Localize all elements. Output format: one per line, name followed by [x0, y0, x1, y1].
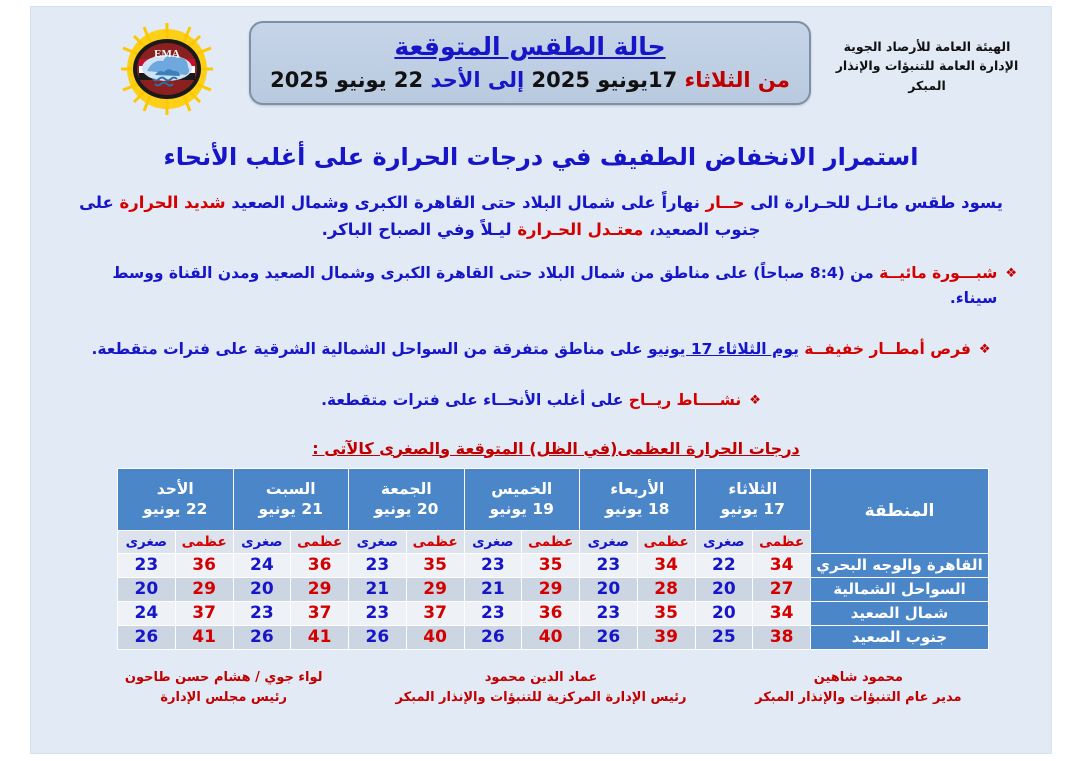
headline: استمرار الانخفاض الطفيف في درجات الحرارة… — [31, 143, 1051, 171]
cell-min-r2-d0: 20 — [695, 601, 753, 625]
date-to-value: 22 يونيو 2025 — [270, 68, 423, 92]
summary-paragraph: يسود طقس مائـل للحـرارة الى حــار نهاراً… — [61, 189, 1021, 243]
day-1-name: الأربعاء — [580, 479, 695, 499]
diamond-bullet-icon: ❖ — [979, 340, 991, 361]
table-row: السواحل الشمالية272028202921292129202920 — [118, 577, 989, 601]
table-head-row-days: المنطقة الثلاثاء 17 يونيو الأربعاء 18 يو… — [118, 468, 989, 530]
authority-line-2: الإدارة العامة للتنبؤات والإنذار المبكر — [817, 56, 1037, 95]
table-head: المنطقة الثلاثاء 17 يونيو الأربعاء 18 يو… — [118, 468, 989, 553]
cell-min-r0-d2: 23 — [464, 553, 522, 577]
cell-max-r1-d3: 29 — [406, 577, 464, 601]
subheader-min-day-0: صغرى — [695, 530, 753, 553]
signature-right: محمود شاهين مدير عام التنبؤات والإنذار ا… — [700, 668, 1017, 708]
column-header-day-4: السبت 21 يونيو — [233, 468, 349, 530]
cell-max-r0-d2: 35 — [522, 553, 580, 577]
list-item: ❖ شبـــورة مائيــة من (8:4 صباحاً) على م… — [31, 261, 1051, 311]
signature-center-name: عماد الدين محمود — [382, 668, 699, 688]
cell-max-r3-d5: 41 — [175, 625, 233, 649]
diamond-bullet-icon: ❖ — [749, 391, 761, 412]
day-3-date: 20 يونيو — [349, 499, 464, 519]
cell-max-r3-d0: 38 — [753, 625, 811, 649]
diamond-bullet-icon: ❖ — [1005, 264, 1017, 285]
cell-max-r1-d4: 29 — [291, 577, 349, 601]
header: EMA حالة الطقس المتوقعة من الثلاثاء 17يو… — [31, 7, 1051, 119]
authority-block: الهيئة العامة للأرصاد الجوية الإدارة الع… — [817, 37, 1037, 95]
cell-max-r0-d5: 36 — [175, 553, 233, 577]
cell-max-r3-d2: 40 — [522, 625, 580, 649]
table-row: شمال الصعيد342035233623372337233724 — [118, 601, 989, 625]
cell-min-r3-d0: 25 — [695, 625, 753, 649]
svg-text:EMA: EMA — [154, 48, 180, 60]
cell-region-0: القاهرة والوجه البحري — [811, 553, 989, 577]
cell-region-3: جنوب الصعيد — [811, 625, 989, 649]
bullet-1-lead: شبـــورة مائيــة — [879, 264, 997, 282]
signature-left-name: لواء جوي / هشام حسن طاحون — [65, 668, 382, 688]
cell-max-r2-d1: 35 — [637, 601, 695, 625]
day-0-name: الثلاثاء — [696, 479, 811, 499]
cell-min-r0-d1: 23 — [580, 553, 638, 577]
cell-max-r1-d0: 27 — [753, 577, 811, 601]
cell-min-r2-d1: 23 — [580, 601, 638, 625]
cell-min-r3-d3: 26 — [349, 625, 407, 649]
subheader-min-day-2: صغرى — [464, 530, 522, 553]
subheader-max-day-4: عظمى — [291, 530, 349, 553]
bullet-1-text: من (8:4 صباحاً) على مناطق من شمال البلاد… — [112, 264, 997, 307]
forecast-bulletin-page: EMA حالة الطقس المتوقعة من الثلاثاء 17يو… — [30, 6, 1052, 754]
cell-region-2: شمال الصعيد — [811, 601, 989, 625]
cell-max-r0-d0: 34 — [753, 553, 811, 577]
bullet-2-lead: فرص أمطــار خفيفــة — [804, 340, 971, 358]
day-4-name: السبت — [234, 479, 349, 499]
cell-min-r1-d2: 21 — [464, 577, 522, 601]
cell-min-r1-d4: 20 — [233, 577, 291, 601]
signature-left: لواء جوي / هشام حسن طاحون رئيس مجلس الإد… — [65, 668, 382, 708]
cell-min-r3-d2: 26 — [464, 625, 522, 649]
cell-min-r1-d0: 20 — [695, 577, 753, 601]
day-4-date: 21 يونيو — [234, 499, 349, 519]
cell-max-r0-d1: 34 — [637, 553, 695, 577]
para-segment-1-emphasis: حــار — [706, 193, 745, 212]
subheader-max-day-5: عظمى — [175, 530, 233, 553]
column-header-day-0: الثلاثاء 17 يونيو — [695, 468, 811, 530]
cell-min-r1-d5: 20 — [118, 577, 176, 601]
column-header-day-2: الخميس 19 يونيو — [464, 468, 580, 530]
cell-max-r1-d2: 29 — [522, 577, 580, 601]
cell-max-r2-d2: 36 — [522, 601, 580, 625]
list-item: ❖ نشــــاط ريــاح على أغلب الأنحــاء على… — [31, 388, 1051, 413]
day-1-date: 18 يونيو — [580, 499, 695, 519]
signature-center: عماد الدين محمود رئيس الإدارة المركزية ل… — [382, 668, 699, 708]
footer-signatures: محمود شاهين مدير عام التنبؤات والإنذار ا… — [31, 650, 1051, 708]
cell-min-r2-d2: 23 — [464, 601, 522, 625]
signature-center-title: رئيس الإدارة المركزية للتنبؤات والإنذار … — [382, 688, 699, 708]
title-date-range: من الثلاثاء 17يونيو 2025 إلى الأحد 22 يو… — [251, 68, 809, 93]
cell-min-r3-d5: 26 — [118, 625, 176, 649]
cell-max-r2-d4: 37 — [291, 601, 349, 625]
signature-left-title: رئيس مجلس الإدارة — [65, 688, 382, 708]
day-5-name: الأحد — [118, 479, 233, 499]
subheader-min-day-3: صغرى — [349, 530, 407, 553]
forecast-table: المنطقة الثلاثاء 17 يونيو الأربعاء 18 يو… — [117, 468, 989, 650]
table-row: القاهرة والوجه البحري3422342335233523362… — [118, 553, 989, 577]
page-title: حالة الطقس المتوقعة — [251, 31, 809, 62]
cell-max-r3-d1: 39 — [637, 625, 695, 649]
authority-line-1: الهيئة العامة للأرصاد الجوية — [817, 37, 1037, 56]
signature-right-title: مدير عام التنبؤات والإنذار المبكر — [700, 688, 1017, 708]
cell-max-r2-d3: 37 — [406, 601, 464, 625]
forecast-table-wrap: المنطقة الثلاثاء 17 يونيو الأربعاء 18 يو… — [31, 468, 1051, 650]
para-segment-2: نهاراً على شمال البلاد حتى القاهرة الكبر… — [231, 193, 699, 212]
table-body: القاهرة والوجه البحري3422342335233523362… — [118, 553, 989, 649]
cell-region-1: السواحل الشمالية — [811, 577, 989, 601]
cell-min-r3-d1: 26 — [580, 625, 638, 649]
signature-right-name: محمود شاهين — [700, 668, 1017, 688]
subheader-max-day-1: عظمى — [637, 530, 695, 553]
date-from-label: من الثلاثاء — [685, 68, 790, 92]
bullet-2-date: يوم الثلاثاء 17 يونيو — [648, 340, 799, 358]
subheader-min-day-1: صغرى — [580, 530, 638, 553]
bullet-2-text: على مناطق متفرقة من السواحل الشمالية الش… — [91, 340, 642, 358]
cell-max-r1-d5: 29 — [175, 577, 233, 601]
table-caption: درجات الحرارة العظمى(في الظل) المتوقعة و… — [31, 439, 1051, 458]
cell-min-r2-d4: 23 — [233, 601, 291, 625]
day-2-date: 19 يونيو — [465, 499, 580, 519]
title-box: حالة الطقس المتوقعة من الثلاثاء 17يونيو … — [249, 21, 811, 105]
para-segment-4-emphasis: معتـدل الحـرارة — [517, 220, 643, 239]
cell-min-r2-d3: 23 — [349, 601, 407, 625]
date-from-value: 17يونيو 2025 — [532, 68, 678, 92]
bullet-3-lead: نشــــاط ريــاح — [629, 391, 741, 409]
day-2-name: الخميس — [465, 479, 580, 499]
cell-min-r0-d4: 24 — [233, 553, 291, 577]
day-0-date: 17 يونيو — [696, 499, 811, 519]
ema-logo: EMA — [111, 21, 223, 117]
column-header-day-3: الجمعة 20 يونيو — [349, 468, 465, 530]
bullet-3-mid: على أغلب الأنحــاء — [483, 391, 623, 409]
cell-max-r0-d4: 36 — [291, 553, 349, 577]
column-header-day-1: الأربعاء 18 يونيو — [580, 468, 696, 530]
cell-min-r0-d5: 23 — [118, 553, 176, 577]
day-5-date: 22 يونيو — [118, 499, 233, 519]
cell-max-r2-d5: 37 — [175, 601, 233, 625]
cell-min-r0-d3: 23 — [349, 553, 407, 577]
para-segment-5: ليـلاً وفي الصباح الباكر. — [322, 220, 512, 239]
cell-min-r1-d3: 21 — [349, 577, 407, 601]
subheader-max-day-3: عظمى — [406, 530, 464, 553]
list-item: ❖ فرص أمطــار خفيفــة يوم الثلاثاء 17 يو… — [31, 337, 1051, 362]
cell-max-r0-d3: 35 — [406, 553, 464, 577]
subheader-max-day-0: عظمى — [753, 530, 811, 553]
subheader-min-day-4: صغرى — [233, 530, 291, 553]
date-to-label: إلى الأحد — [430, 68, 524, 92]
bullet-3-text: على فترات متقطعة. — [321, 391, 478, 409]
para-segment-2-emphasis: شديد الحرارة — [120, 193, 226, 212]
day-3-name: الجمعة — [349, 479, 464, 499]
table-row: جنوب الصعيد382539264026402641264126 — [118, 625, 989, 649]
para-segment-1: يسود طقس مائـل للحـرارة الى — [750, 193, 1003, 212]
subheader-max-day-2: عظمى — [522, 530, 580, 553]
cell-max-r2-d0: 34 — [753, 601, 811, 625]
cell-min-r1-d1: 20 — [580, 577, 638, 601]
cell-min-r3-d4: 26 — [233, 625, 291, 649]
column-header-day-5: الأحد 22 يونيو — [118, 468, 234, 530]
cell-max-r3-d3: 40 — [406, 625, 464, 649]
column-header-region: المنطقة — [811, 468, 989, 553]
bullet-list: ❖ شبـــورة مائيــة من (8:4 صباحاً) على م… — [31, 261, 1051, 412]
cell-max-r3-d4: 41 — [291, 625, 349, 649]
cell-max-r1-d1: 28 — [637, 577, 695, 601]
cell-min-r0-d0: 22 — [695, 553, 753, 577]
subheader-min-day-5: صغرى — [118, 530, 176, 553]
cell-min-r2-d5: 24 — [118, 601, 176, 625]
